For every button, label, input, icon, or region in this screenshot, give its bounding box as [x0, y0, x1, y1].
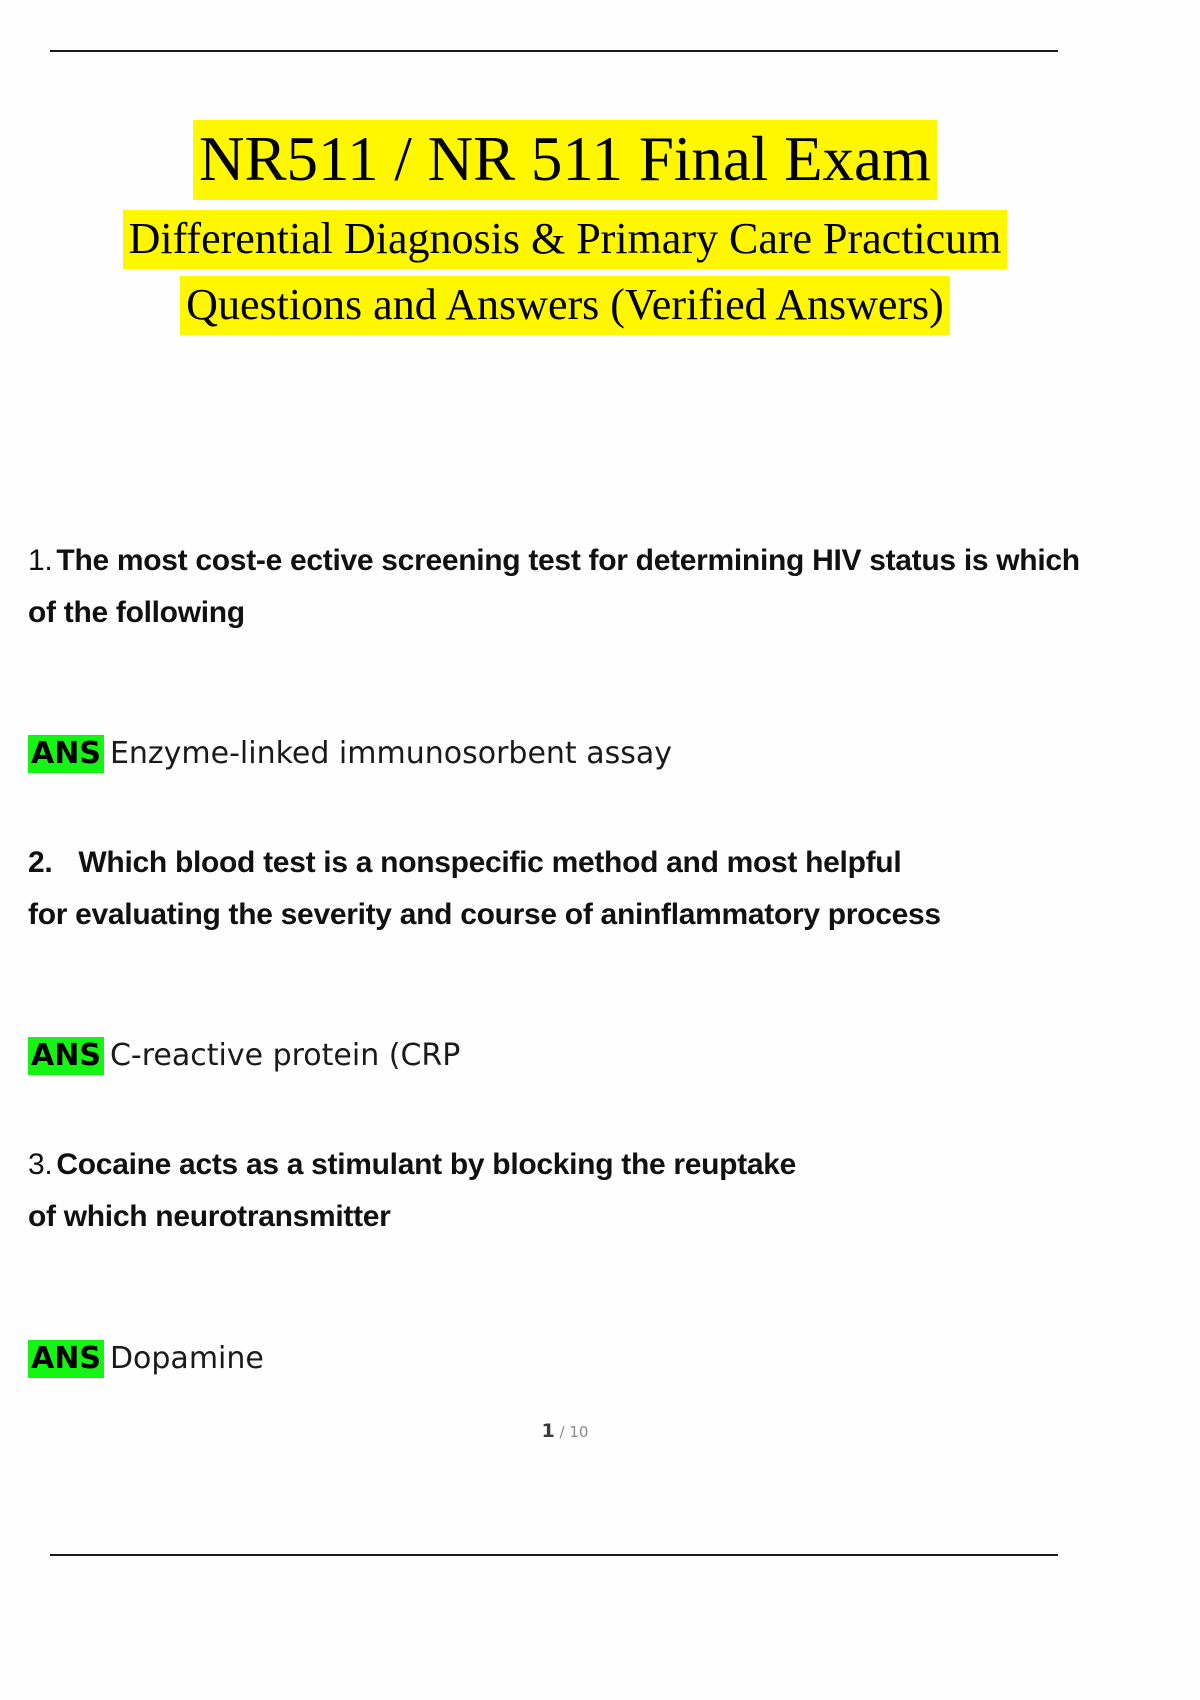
ans-badge-1: ANS: [28, 735, 104, 773]
qa-item-3: 3.Cocaine acts as a stimulant by blockin…: [28, 1139, 1200, 1377]
document-title-block: NR511 / NR 511 Final Exam Differential D…: [0, 128, 1130, 327]
ans-badge-3: ANS: [28, 1340, 104, 1378]
question-1-text-line-1: The most cost-e ective screening test fo…: [56, 544, 1079, 577]
ans-badge-2: ANS: [28, 1037, 104, 1075]
answer-3: ANSDopamine: [28, 1339, 1200, 1378]
document-title-text-3: Questions and Answers (Verified Answers): [180, 276, 950, 335]
document-title-line-3: Questions and Answers (Verified Answers): [0, 283, 1130, 327]
document-title-line-2: Differential Diagnosis & Primary Care Pr…: [0, 217, 1130, 261]
footer-current-page: 1: [542, 1420, 555, 1442]
footer-separator: /: [555, 1423, 570, 1441]
qa-item-2: 2.Which blood test is a nonspecific meth…: [28, 837, 1200, 1075]
spacer: [28, 940, 1200, 1036]
spacer: [28, 773, 1200, 837]
page-footer: 1 / 10: [0, 1420, 1130, 1442]
spacer: [28, 1243, 1200, 1339]
question-2-line-1: 2.Which blood test is a nonspecific meth…: [28, 837, 1200, 889]
document-title-text-2: Differential Diagnosis & Primary Care Pr…: [123, 210, 1008, 269]
question-1-line-1: 1.The most cost-e ective screening test …: [28, 535, 1200, 587]
answer-2-text: C-reactive protein (CRP: [110, 1038, 460, 1073]
question-1-number: 1.: [28, 535, 52, 587]
question-2-line-2: for evaluating the severity and course o…: [28, 889, 1200, 941]
question-2-number: 2.: [28, 837, 52, 889]
qa-item-1: 1.The most cost-e ective screening test …: [28, 535, 1200, 773]
answer-2: ANSC-reactive protein (CRP: [28, 1036, 1200, 1075]
question-3-line-2: of which neurotransmitter: [28, 1191, 1200, 1243]
question-2-text-line-1: Which blood test is a nonspecific method…: [78, 846, 901, 879]
question-3-text-line-1: Cocaine acts as a stimulant by blocking …: [56, 1148, 796, 1181]
question-2-text-line-2: for evaluating the severity and course o…: [28, 898, 941, 931]
answer-1: ANSEnzyme-linked immunosorbent assay: [28, 734, 1200, 773]
question-1-line-2: of the following: [28, 587, 1200, 639]
spacer: [28, 638, 1200, 734]
answer-1-text: Enzyme-linked immunosorbent assay: [110, 736, 672, 771]
question-3-number: 3.: [28, 1139, 52, 1191]
spacer: [28, 1075, 1200, 1139]
answer-3-text: Dopamine: [110, 1341, 264, 1376]
document-title-line-1: NR511 / NR 511 Final Exam: [0, 128, 1130, 191]
qa-content: 1.The most cost-e ective screening test …: [28, 535, 1200, 1378]
question-3-line-1: 3.Cocaine acts as a stimulant by blockin…: [28, 1139, 1200, 1191]
document-page: NR511 / NR 511 Final Exam Differential D…: [0, 0, 1200, 1700]
page-bottom-rule: [50, 1554, 1058, 1556]
question-3-text-line-2: of which neurotransmitter: [28, 1200, 391, 1233]
footer-total-pages: 10: [569, 1423, 588, 1441]
page-top-rule: [50, 50, 1058, 52]
document-title-text-1: NR511 / NR 511 Final Exam: [193, 120, 937, 200]
question-1-text-line-2: of the following: [28, 596, 245, 629]
